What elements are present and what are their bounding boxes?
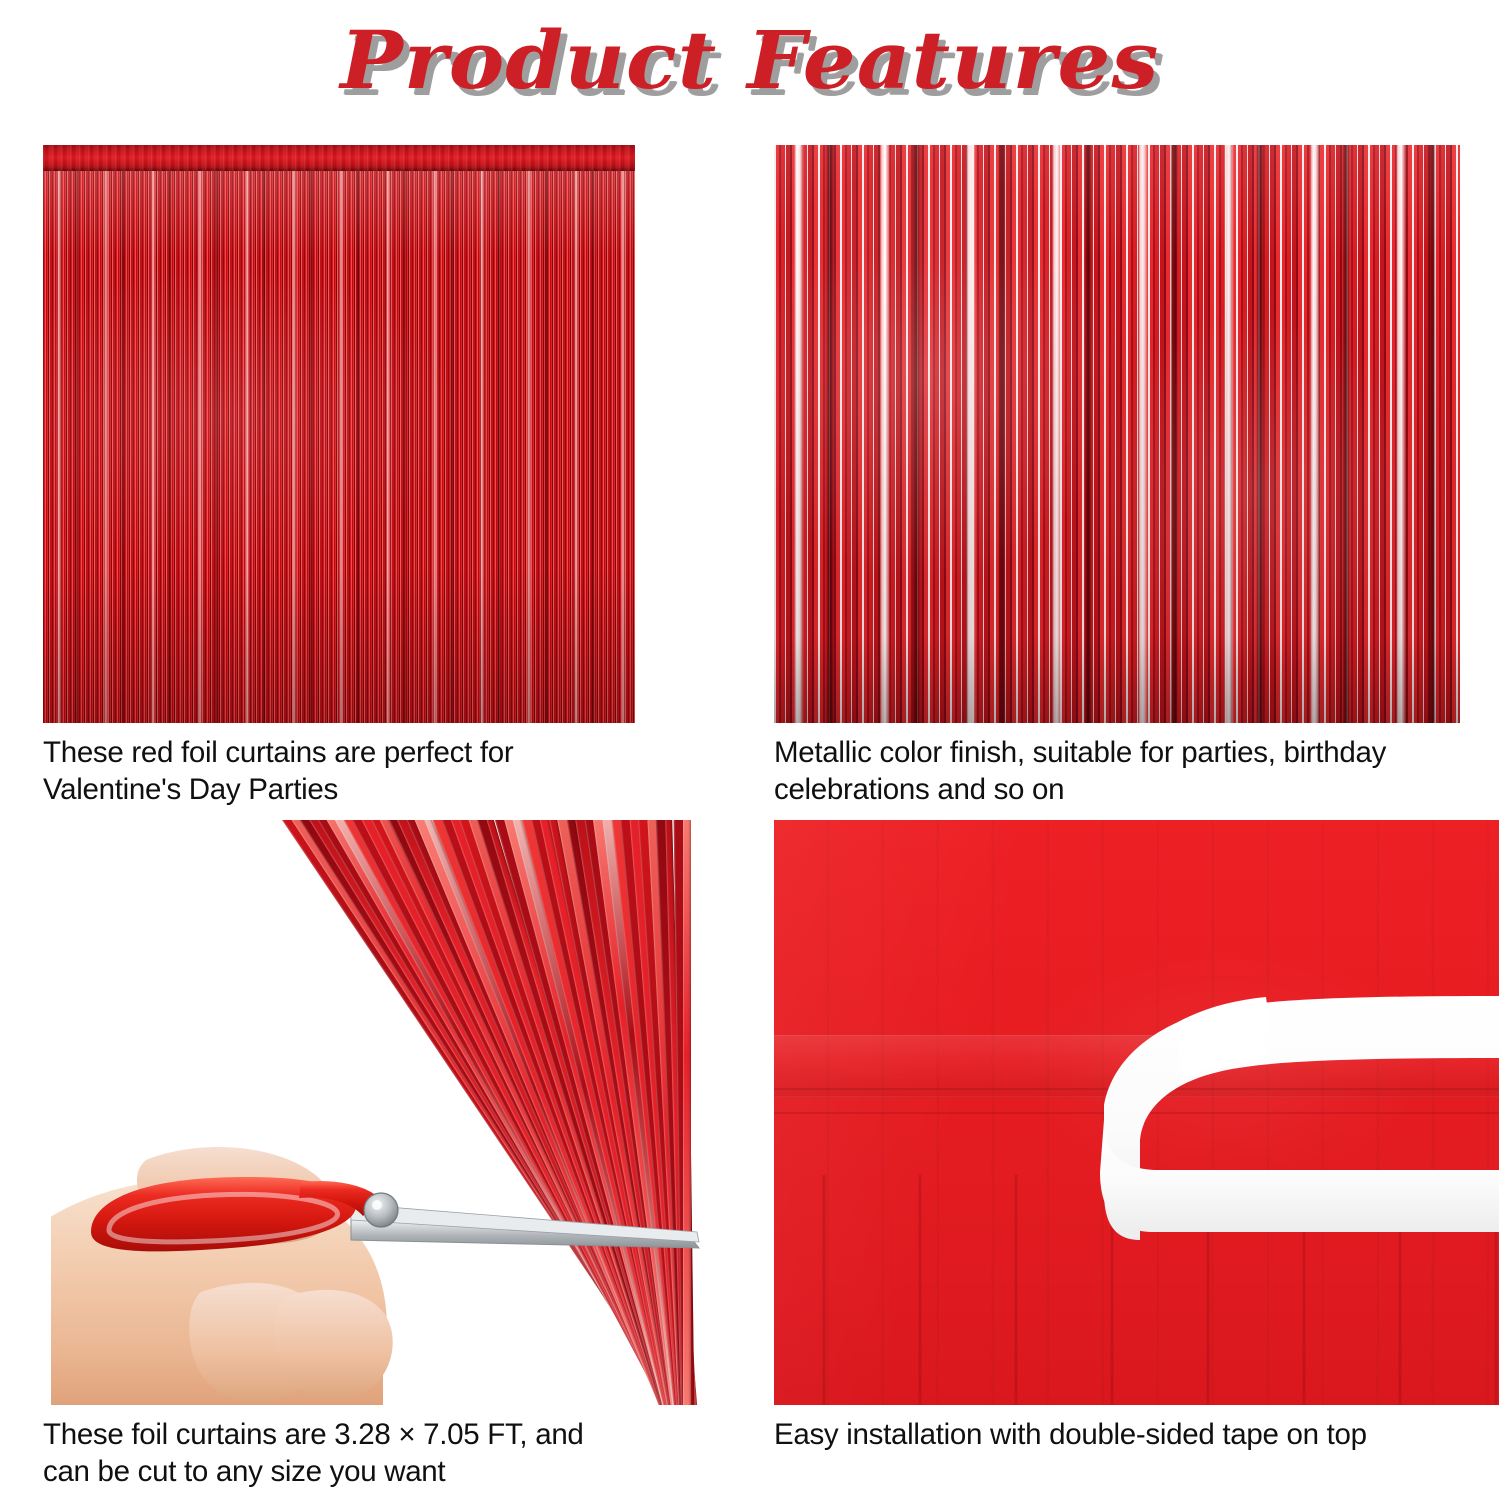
feature-cell-cuttable-size: These foil curtains are 3.28 × 7.05 FT, … (43, 820, 702, 1405)
red-foil-curtain-closeup-image (774, 145, 1460, 723)
curtain-header-bar (43, 145, 635, 171)
page-title: Product Features (340, 20, 1159, 100)
feature-caption-metallic-finish: Metallic color finish, suitable for part… (774, 735, 1460, 809)
feature-cell-metallic-finish: Metallic color finish, suitable for part… (774, 145, 1460, 723)
feature-caption-valentines: These red foil curtains are perfect for … (43, 735, 635, 809)
hand-and-scissors-graphic (51, 1120, 702, 1405)
red-foil-curtain-full-view-image (43, 145, 635, 723)
double-sided-tape-on-red-foil-image (774, 820, 1499, 1405)
foil-closeup-graphic (774, 145, 1460, 723)
feature-cell-easy-install: Easy installation with double-sided tape… (774, 820, 1499, 1405)
foil-curtain-graphic (43, 145, 635, 723)
feature-caption-easy-install: Easy installation with double-sided tape… (774, 1417, 1499, 1454)
scissor-pivot-glint (372, 1200, 382, 1210)
scissor-pivot-screw (364, 1193, 398, 1227)
feature-caption-cuttable-size: These foil curtains are 3.28 × 7.05 FT, … (43, 1417, 702, 1491)
feature-cell-valentines: These red foil curtains are perfect for … (43, 145, 635, 723)
curtain-fringe-strands-closeup (774, 145, 1460, 723)
double-sided-tape-strip (774, 820, 1499, 1405)
tape-bottom-run (1100, 1120, 1499, 1232)
curtain-fringe-strands (43, 169, 635, 723)
hand-cutting-foil-with-scissors-image (43, 820, 702, 1405)
finger-middle (274, 1290, 392, 1399)
feature-grid: These red foil curtains are perfect for … (0, 120, 1499, 1500)
title-bar: Product Features (0, 0, 1499, 120)
